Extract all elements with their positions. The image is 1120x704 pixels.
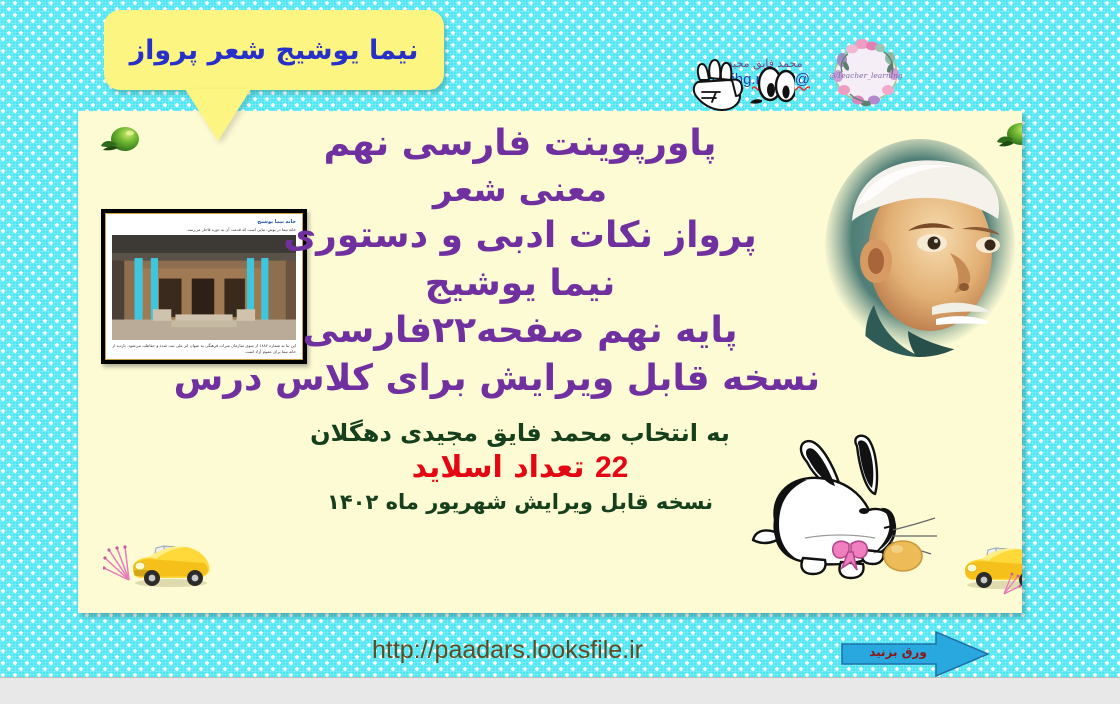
speech-bubble-text: نیما یوشیج شعر پرواز: [130, 35, 419, 66]
headline-line-2: معنی شعر: [220, 168, 820, 213]
badge-handle-wrap: @Teacher_learning: [822, 32, 910, 116]
headline-line-3: پرواز نکات ادبی و دستوری: [220, 212, 820, 260]
headline-line-4: نیما یوشیج: [220, 260, 820, 308]
speech-bubble[interactable]: نیما یوشیج شعر پرواز: [104, 10, 444, 90]
cartoon-eyes-icon: [750, 68, 795, 104]
cartoon-hand-and-eyes: [690, 58, 795, 116]
slide-count-label: تعداد اسلاید: [412, 450, 585, 485]
badge-handle: @Teacher_learning: [829, 71, 902, 80]
revision-line: نسخه قابل ویرایش شهریور ماه ۱۴۰۲: [240, 489, 800, 515]
status-bar: [0, 677, 1120, 704]
slide-subblock: به انتخاب محمد فایق مجیدی دهگلان 22 تعدا…: [240, 418, 800, 515]
slide-count-line: 22 تعداد اسلاید: [240, 448, 800, 489]
yellow-car-icon: [128, 536, 214, 588]
nima-yushij-portrait: [812, 135, 1022, 363]
teacher-learning-badge: @Teacher_learning: [822, 32, 910, 116]
headline-line-5: پایه نهم صفحه۲۲فارسی: [220, 307, 820, 355]
selected-by-line: به انتخاب محمد فایق مجیدی دهگلان: [240, 418, 800, 448]
speech-bubble-tail: [185, 89, 251, 141]
slide-canvas[interactable]: خانه نیما یوشیج خانه نیما در یوش، بنایی …: [78, 111, 1022, 613]
headline-line-1: پاورپوینت فارسی نهم: [220, 120, 820, 168]
slide-count-value: 22: [595, 451, 628, 484]
sparkle-icon: [1000, 570, 1022, 596]
headline-line-6: نسخه قابل ویرایش برای کلاس درس: [220, 355, 820, 403]
next-slide-label: ورق بزنید: [858, 645, 938, 659]
next-slide-arrow[interactable]: ورق بزنید: [840, 630, 990, 678]
footer-url[interactable]: http://paadars.looksfile.ir: [372, 636, 643, 665]
green-fruit-icon: [100, 122, 142, 156]
waving-hand-icon: [694, 60, 742, 110]
slide-headline: پاورپوینت فارسی نهم معنی شعر پرواز نکات …: [220, 120, 820, 402]
green-fruit-icon: [996, 119, 1022, 153]
